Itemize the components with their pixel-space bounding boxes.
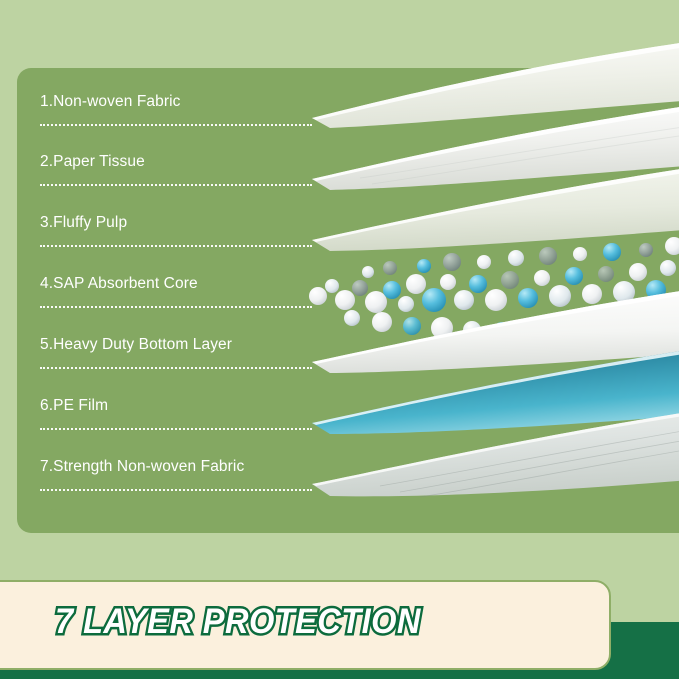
banner-title: 7 LAYER PROTECTION <box>55 602 421 642</box>
layer-leader-line-7 <box>40 489 312 491</box>
layer-leader-line-3 <box>40 245 312 247</box>
layer-label-6: 6.PE Film <box>40 396 312 430</box>
layer-label-2-text: 2.Paper Tissue <box>40 152 312 172</box>
product-infographic: 1.Non-woven Fabric 2.Paper Tissue 3.Fluf… <box>0 0 679 679</box>
layer-leader-line-2 <box>40 184 312 186</box>
layer-leader-line-4 <box>40 306 312 308</box>
layer-label-list: 1.Non-woven Fabric 2.Paper Tissue 3.Fluf… <box>0 0 679 679</box>
layer-label-3: 3.Fluffy Pulp <box>40 213 312 247</box>
layer-label-5: 5.Heavy Duty Bottom Layer <box>40 335 312 369</box>
layer-leader-line-5 <box>40 367 312 369</box>
layer-label-7: 7.Strength Non-woven Fabric <box>40 457 312 491</box>
layer-label-4: 4.SAP Absorbent Core <box>40 274 312 308</box>
layer-label-6-text: 6.PE Film <box>40 396 312 416</box>
layer-label-7-text: 7.Strength Non-woven Fabric <box>40 457 312 477</box>
layer-label-1: 1.Non-woven Fabric <box>40 92 312 126</box>
layer-leader-line-1 <box>40 124 312 126</box>
layer-label-5-text: 5.Heavy Duty Bottom Layer <box>40 335 312 355</box>
layer-leader-line-6 <box>40 428 312 430</box>
layer-label-1-text: 1.Non-woven Fabric <box>40 92 312 112</box>
layer-label-4-text: 4.SAP Absorbent Core <box>40 274 312 294</box>
layer-label-2: 2.Paper Tissue <box>40 152 312 186</box>
layer-label-3-text: 3.Fluffy Pulp <box>40 213 312 233</box>
